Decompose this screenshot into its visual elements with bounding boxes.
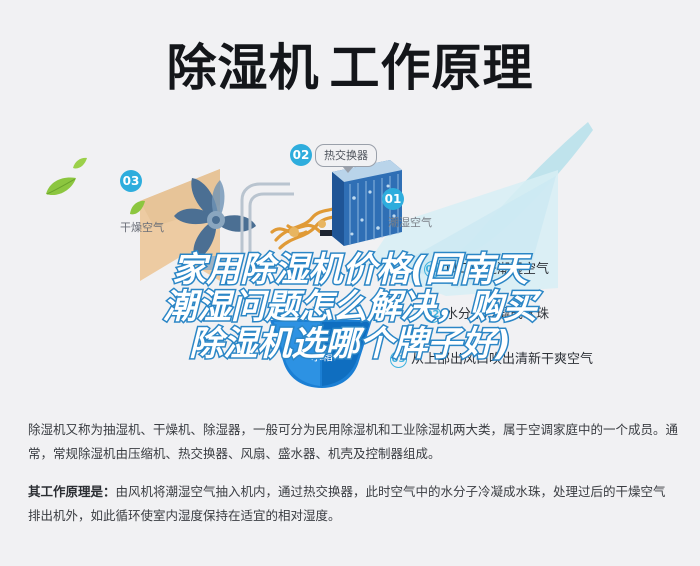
badge-step-01: 01 (382, 188, 404, 210)
infographic: 除湿机工作原理 干燥空气 (0, 0, 700, 408)
label-wet-air: 潮湿空气 (388, 214, 432, 230)
article-paragraph-2-lead: 其工作原理是： (28, 484, 116, 499)
infographic-title: 除湿机工作原理 (0, 28, 700, 100)
infographic-title-main: 除湿机 (167, 39, 320, 97)
article-page: 除湿机工作原理 干燥空气 (0, 0, 700, 566)
article-body: 除湿机又称为抽湿机、干燥机、除湿器，一般可分为民用除湿机和工业除湿机两大类，属于… (28, 418, 678, 542)
overlay-headline: 家用除湿机价格(回南天 潮湿问题怎么解决，购买 除湿机选哪个牌子好) (0, 252, 700, 363)
label-dry-air: 干燥空气 (120, 219, 164, 235)
leaf-icon (128, 200, 146, 216)
article-paragraph-2: 其工作原理是：由风机将潮湿空气抽入机内，通过热交换器，此时空气中的水分子冷凝成水… (28, 480, 678, 528)
leaf-icon (44, 176, 78, 198)
infographic-title-sub: 工作原理 (330, 39, 534, 97)
article-paragraph-1: 除湿机又称为抽湿机、干燥机、除湿器，一般可分为民用除湿机和工业除湿机两大类，属于… (28, 418, 678, 466)
callout-heat-exchanger: 热交换器 (315, 144, 377, 167)
article-paragraph-2-rest: 由风机将潮湿空气抽入机内，通过热交换器，此时空气中的水分子冷凝成水珠，处理过后的… (28, 484, 666, 523)
leaf-icon (72, 157, 88, 170)
badge-step-03-left: 03 (120, 170, 142, 192)
badge-step-02: 02 (290, 144, 312, 166)
